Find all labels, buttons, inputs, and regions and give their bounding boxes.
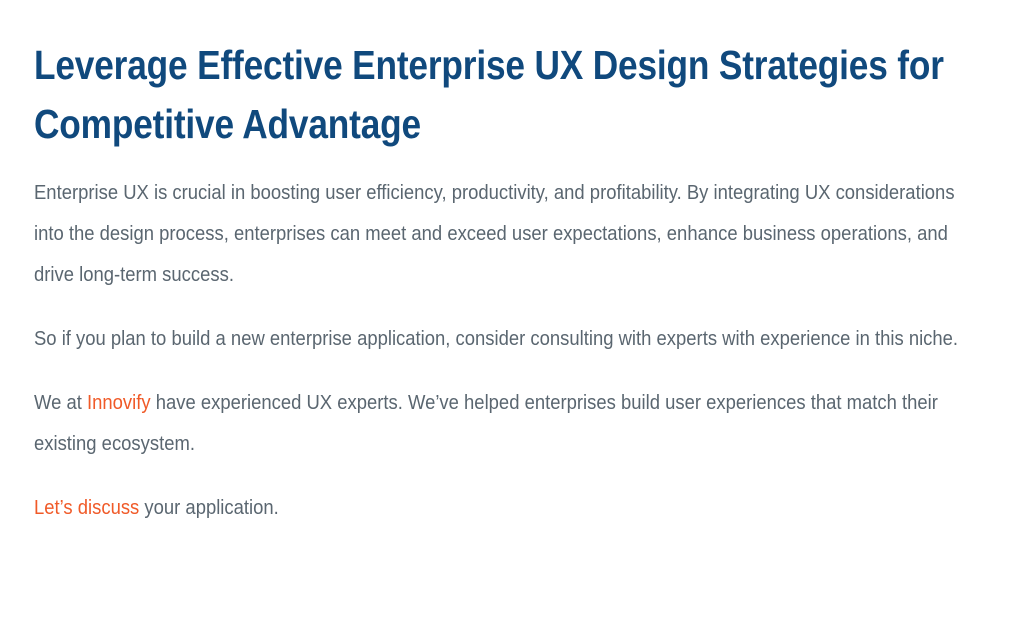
lets-discuss-link[interactable]: Let’s discuss [34,496,139,519]
paragraph-intro: Enterprise UX is crucial in boosting use… [34,172,962,295]
paragraph-experts-text-before: We at [34,391,87,414]
paragraph-cta-text-after: your application. [139,496,278,519]
page-title: Leverage Effective Enterprise UX Design … [34,0,961,154]
paragraph-experts: We at Innovify have experienced UX exper… [34,382,962,464]
innovify-link[interactable]: Innovify [87,391,151,414]
paragraph-cta: Let’s discuss your application. [34,487,962,528]
article-content: Leverage Effective Enterprise UX Design … [34,0,962,528]
article-body: Enterprise UX is crucial in boosting use… [34,172,962,528]
paragraph-consulting: So if you plan to build a new enterprise… [34,318,962,359]
paragraph-experts-text-after: have experienced UX experts. We’ve helpe… [34,391,938,455]
